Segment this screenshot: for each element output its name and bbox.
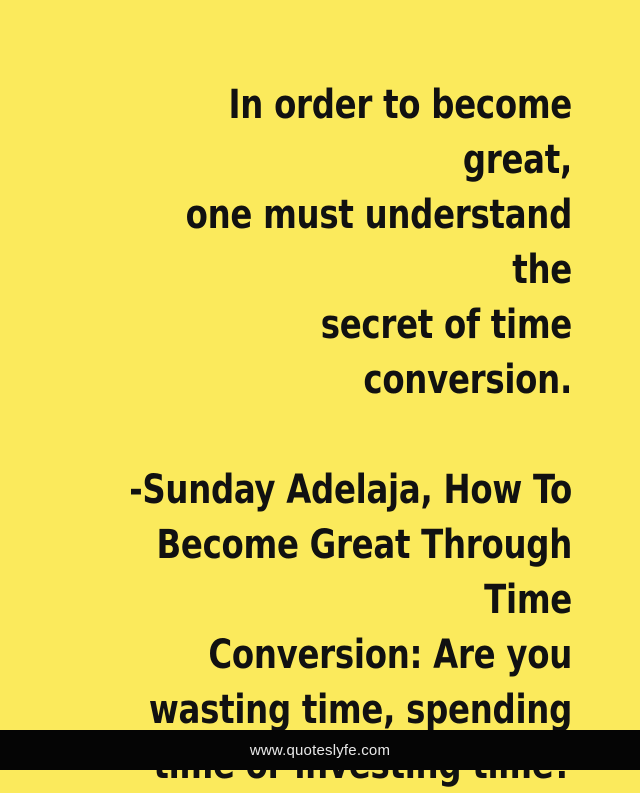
quote-card: In order to become great, one must under… <box>0 0 640 770</box>
footer-site-label: www.quoteslyfe.com <box>250 742 390 759</box>
quote-content-area: In order to become great, one must under… <box>0 0 640 730</box>
footer-bar: www.quoteslyfe.com <box>0 730 640 770</box>
quote-text: In order to become great, one must under… <box>118 78 572 408</box>
quote-attribution-spacer <box>68 408 572 463</box>
